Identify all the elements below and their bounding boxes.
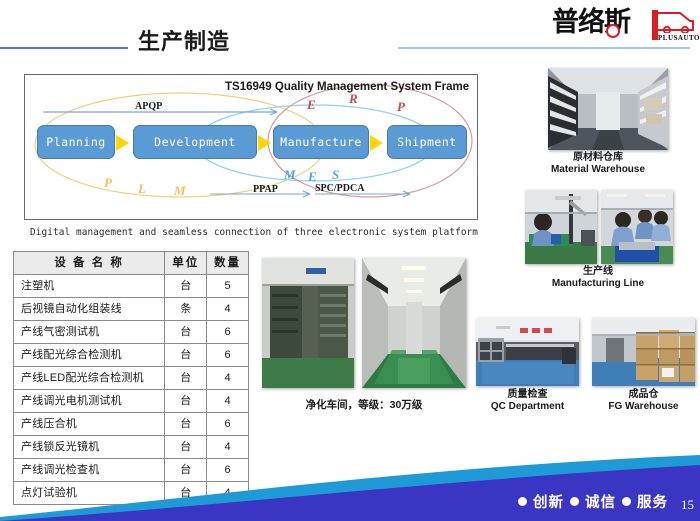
diagram-caption: Digital management and seamless connecti… xyxy=(30,227,478,238)
photo-cleanroom-2 xyxy=(362,258,466,388)
caption-cleanroom: 净化车间，等级：30万级 xyxy=(262,400,466,412)
mes-letter-e: E xyxy=(308,169,317,185)
cell-quantity: 4 xyxy=(207,298,249,321)
caption-material-en: Material Warehouse xyxy=(498,164,698,176)
slide-canvas: 生产制造 普络斯 PLUSAUTO xyxy=(0,0,700,521)
mes-letter-m: M xyxy=(284,167,296,183)
caption-qc-department: 质量检查 QC Department xyxy=(476,389,579,412)
ts16949-diagram: TS16949 Quality Management System Frame … xyxy=(24,74,478,220)
caption-manufacturing-line: 生产线 Manufacturing Line xyxy=(498,266,698,289)
company-logo: 普络斯 PLUSAUTO xyxy=(552,8,694,46)
logo-dot-icon xyxy=(606,24,620,38)
truck-logo-icon xyxy=(656,11,694,33)
flow-arrow-icon-3 xyxy=(370,135,383,151)
mes-letter-s: S xyxy=(332,167,339,183)
flow-arrow-icon-1 xyxy=(116,135,129,151)
photo-fg-warehouse xyxy=(592,318,695,386)
process-box-planning: Planning xyxy=(37,125,115,159)
header-rule-left xyxy=(0,47,128,49)
photo-manufacturing-line-2 xyxy=(601,190,673,264)
cell-unit: 台 xyxy=(165,413,207,436)
plm-letter-p: P xyxy=(104,175,112,191)
cell-equipment-name: 后视镜自动化组装线 xyxy=(14,298,165,321)
photo-manufacturing-line-1 xyxy=(525,190,597,264)
cell-equipment-name: 注塑机 xyxy=(14,275,165,298)
slogan-innovation: 创新 xyxy=(533,491,564,512)
table-row: 产线LED配光综合检测机台4 xyxy=(14,367,249,390)
diagram-title: TS16949 Quality Management System Frame xyxy=(225,81,469,93)
cell-unit: 台 xyxy=(165,275,207,298)
bullet-icon-1 xyxy=(518,497,527,506)
table-row: 后视镜自动化组装线条4 xyxy=(14,298,249,321)
cell-unit: 台 xyxy=(165,321,207,344)
erp-letter-e: E xyxy=(307,97,316,113)
table-row: 产线气密测试机台6 xyxy=(14,321,249,344)
bullet-icon-2 xyxy=(570,497,579,506)
page-title: 生产制造 xyxy=(138,24,230,56)
cell-equipment-name: 产线气密测试机 xyxy=(14,321,165,344)
caption-material-warehouse: 原材料仓库 Material Warehouse xyxy=(498,152,698,175)
plm-letter-m: M xyxy=(174,183,186,199)
cell-unit: 台 xyxy=(165,390,207,413)
page-number: 15 xyxy=(681,497,694,513)
label-apqp: APQP xyxy=(135,101,162,112)
caption-qc-cn: 质量检查 xyxy=(476,389,579,401)
table-row: 注塑机台5 xyxy=(14,275,249,298)
table-row: 产线调光电机测试机台4 xyxy=(14,390,249,413)
cell-quantity: 4 xyxy=(207,390,249,413)
label-spc-pdca: SPC/PDCA xyxy=(315,183,364,194)
col-header-qty: 数量 xyxy=(207,252,249,275)
caption-material-cn: 原材料仓库 xyxy=(498,152,698,164)
col-header-unit: 单位 xyxy=(165,252,207,275)
caption-fg-cn: 成品仓 xyxy=(592,389,695,401)
label-ppap: PPAP xyxy=(253,184,278,195)
cell-unit: 台 xyxy=(165,367,207,390)
photo-qc-department xyxy=(476,318,579,386)
table-row: 产线压合机台6 xyxy=(14,413,249,436)
erp-letter-p: P xyxy=(397,99,405,115)
slogan-integrity: 诚信 xyxy=(585,491,616,512)
cell-quantity: 4 xyxy=(207,367,249,390)
bullet-icon-3 xyxy=(622,497,631,506)
cell-quantity: 6 xyxy=(207,413,249,436)
cell-unit: 条 xyxy=(165,298,207,321)
caption-fg-en: FG Warehouse xyxy=(592,401,695,413)
header-rule-right xyxy=(398,47,690,49)
photo-material-warehouse xyxy=(548,68,668,150)
caption-fg-warehouse: 成品仓 FG Warehouse xyxy=(592,389,695,412)
cell-equipment-name: 产线LED配光综合检测机 xyxy=(14,367,165,390)
col-header-name: 设 备 名 称 xyxy=(14,252,165,275)
logo-english-text: PLUSAUTO xyxy=(658,34,700,42)
process-box-manufacture: Manufacture xyxy=(273,125,369,159)
caption-qc-en: QC Department xyxy=(476,401,579,413)
slogan-service: 服务 xyxy=(637,491,668,512)
cell-unit: 台 xyxy=(165,344,207,367)
flow-arrow-icon-2 xyxy=(258,135,271,151)
photo-cleanroom-1 xyxy=(262,258,354,388)
plm-letter-l: L xyxy=(138,181,146,197)
process-box-shipment: Shipment xyxy=(387,125,467,159)
cell-quantity: 6 xyxy=(207,321,249,344)
process-box-development: Development xyxy=(133,125,257,159)
cell-equipment-name: 产线压合机 xyxy=(14,413,165,436)
footer-banner: 创新 诚信 服务 15 xyxy=(0,455,700,521)
caption-line-en: Manufacturing Line xyxy=(498,278,698,290)
erp-letter-r: R xyxy=(349,91,358,107)
cell-equipment-name: 产线配光综合检测机 xyxy=(14,344,165,367)
cell-quantity: 6 xyxy=(207,344,249,367)
footer-slogans: 创新 诚信 服务 xyxy=(518,491,668,512)
table-header-row: 设 备 名 称 单位 数量 xyxy=(14,252,249,275)
cell-equipment-name: 产线调光电机测试机 xyxy=(14,390,165,413)
table-row: 产线配光综合检测机台6 xyxy=(14,344,249,367)
cell-quantity: 5 xyxy=(207,275,249,298)
caption-line-cn: 生产线 xyxy=(498,266,698,278)
